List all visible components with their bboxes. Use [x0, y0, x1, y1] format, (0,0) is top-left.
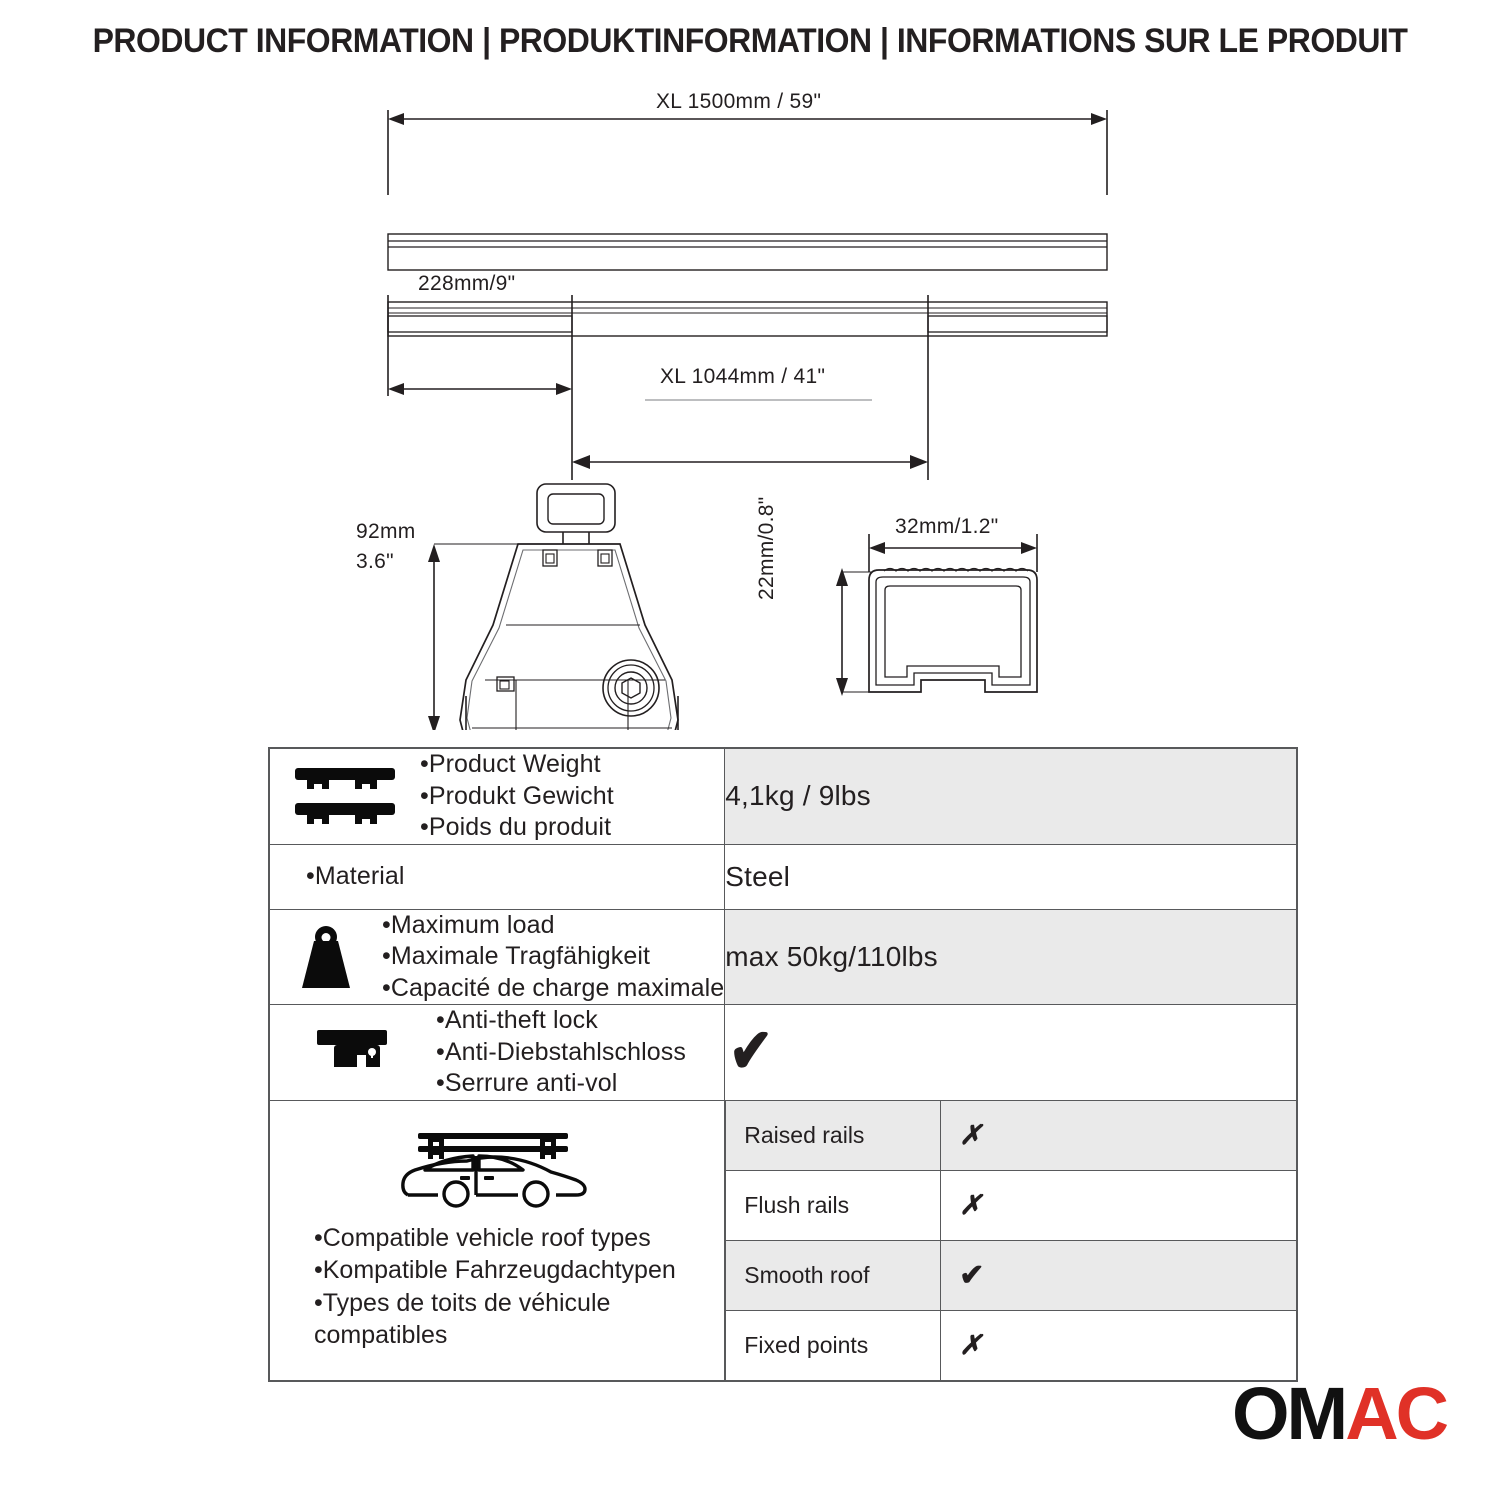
- label-line: •Product Weight: [420, 749, 614, 781]
- table-row: •Material Steel: [269, 844, 1297, 909]
- cross-mark-icon: ✗: [959, 1120, 982, 1150]
- cross-mark-icon: ✗: [959, 1190, 982, 1220]
- label-line: •Maximum load: [382, 910, 724, 942]
- roof-type-mark: ✗: [941, 1170, 1296, 1240]
- logo-text-dark: OM: [1232, 1372, 1345, 1455]
- table-row: •Product Weight •Produkt Gewicht •Poids …: [269, 748, 1297, 844]
- row-label-text: •Material: [306, 861, 405, 893]
- roof-type-row: Smooth roof ✔: [726, 1240, 1296, 1310]
- row-label-maximum-load: •Maximum load •Maximale Tragfähigkeit •C…: [269, 909, 725, 1005]
- label-line: •Material: [306, 861, 405, 893]
- technical-drawing-area: XL 1500mm / 59" 228mm/9" XL 1044mm / 41"…: [0, 80, 1500, 730]
- dim-foot-offset: 228mm/9": [418, 272, 515, 296]
- row-label-anti-theft-lock: •Anti-theft lock •Anti-Diebstahlschloss …: [269, 1005, 725, 1101]
- roof-type-name: Fixed points: [726, 1310, 941, 1380]
- omac-logo: OMAC: [1232, 1414, 1446, 1439]
- value-maximum-load: max 50kg/110lbs: [725, 909, 1297, 1005]
- row-label-text: •Product Weight •Produkt Gewicht •Poids …: [420, 749, 614, 844]
- roof-type-row: Fixed points ✗: [726, 1310, 1296, 1380]
- dim-bar-total-length: XL 1500mm / 59": [656, 90, 821, 114]
- product-information-sheet: PRODUCT INFORMATION | PRODUKTINFORMATION…: [0, 0, 1500, 1500]
- specification-table: •Product Weight •Produkt Gewicht •Poids …: [268, 747, 1298, 1382]
- technical-drawing-svg: [0, 80, 1500, 730]
- dim-bar-span: XL 1044mm / 41": [660, 365, 825, 389]
- roof-type-row: Flush rails ✗: [726, 1170, 1296, 1240]
- table-row: •Anti-theft lock •Anti-Diebstahlschloss …: [269, 1005, 1297, 1101]
- roof-type-name: Raised rails: [726, 1101, 941, 1171]
- dim-profile-width: 32mm/1.2": [895, 515, 999, 539]
- weight-icon: [270, 924, 382, 990]
- value-anti-theft-lock: ✔: [725, 1005, 1297, 1101]
- dim-profile-height: 22mm/0.8": [755, 496, 779, 600]
- label-line: •Anti-theft lock: [436, 1005, 686, 1037]
- row-label-compatible-roof-types: •Compatible vehicle roof types •Kompatib…: [269, 1100, 725, 1381]
- row-label-product-weight: •Product Weight •Produkt Gewicht •Poids …: [269, 748, 725, 844]
- label-line: •Compatible vehicle roof types: [314, 1222, 724, 1255]
- label-line: •Kompatible Fahrzeugdachtypen: [314, 1254, 724, 1287]
- label-line: •Anti-Diebstahlschloss: [436, 1037, 686, 1069]
- compatibility-sub-table-cell: Raised rails ✗ Flush rails ✗: [725, 1100, 1297, 1381]
- label-line: •Capacité de charge maximale: [382, 973, 724, 1005]
- table-row-compatibility: •Compatible vehicle roof types •Kompatib…: [269, 1100, 1297, 1381]
- label-line: •Types de toits de véhicule: [314, 1287, 724, 1320]
- lock-icon: [270, 1026, 436, 1078]
- row-label-text: •Maximum load •Maximale Tragfähigkeit •C…: [382, 910, 724, 1005]
- roof-type-mark: ✔: [941, 1240, 1296, 1310]
- car-with-rack-icon: [270, 1129, 724, 1214]
- dim-foot-height-mm: 92mm: [356, 520, 416, 544]
- value-product-weight: 4,1kg / 9lbs: [725, 748, 1297, 844]
- table-row: •Maximum load •Maximale Tragfähigkeit •C…: [269, 909, 1297, 1005]
- row-label-text: •Anti-theft lock •Anti-Diebstahlschloss …: [436, 1005, 686, 1100]
- crossbars-icon: [270, 762, 420, 830]
- roof-type-name: Smooth roof: [726, 1240, 941, 1310]
- label-line: •Produkt Gewicht: [420, 781, 614, 813]
- check-mark-icon: ✔: [959, 1259, 984, 1292]
- roof-type-row: Raised rails ✗: [726, 1101, 1296, 1171]
- cross-mark-icon: ✗: [959, 1330, 982, 1360]
- row-label-material: •Material: [269, 844, 725, 909]
- check-mark-icon: ✔: [729, 1021, 773, 1083]
- roof-type-mark: ✗: [941, 1101, 1296, 1171]
- label-line: •Maximale Tragfähigkeit: [382, 941, 724, 973]
- label-line: compatibles: [314, 1319, 724, 1352]
- label-line: •Serrure anti-vol: [436, 1068, 686, 1100]
- roof-type-mark: ✗: [941, 1310, 1296, 1380]
- dim-foot-height-in: 3.6": [356, 550, 394, 574]
- roof-type-name: Flush rails: [726, 1170, 941, 1240]
- logo-text-accent: AC: [1345, 1372, 1446, 1455]
- page-title: PRODUCT INFORMATION | PRODUKTINFORMATION…: [45, 22, 1455, 61]
- roof-type-table: Raised rails ✗ Flush rails ✗: [725, 1101, 1296, 1380]
- compatibility-label-text: •Compatible vehicle roof types •Kompatib…: [270, 1222, 724, 1352]
- label-line: •Poids du produit: [420, 812, 614, 844]
- value-material: Steel: [725, 844, 1297, 909]
